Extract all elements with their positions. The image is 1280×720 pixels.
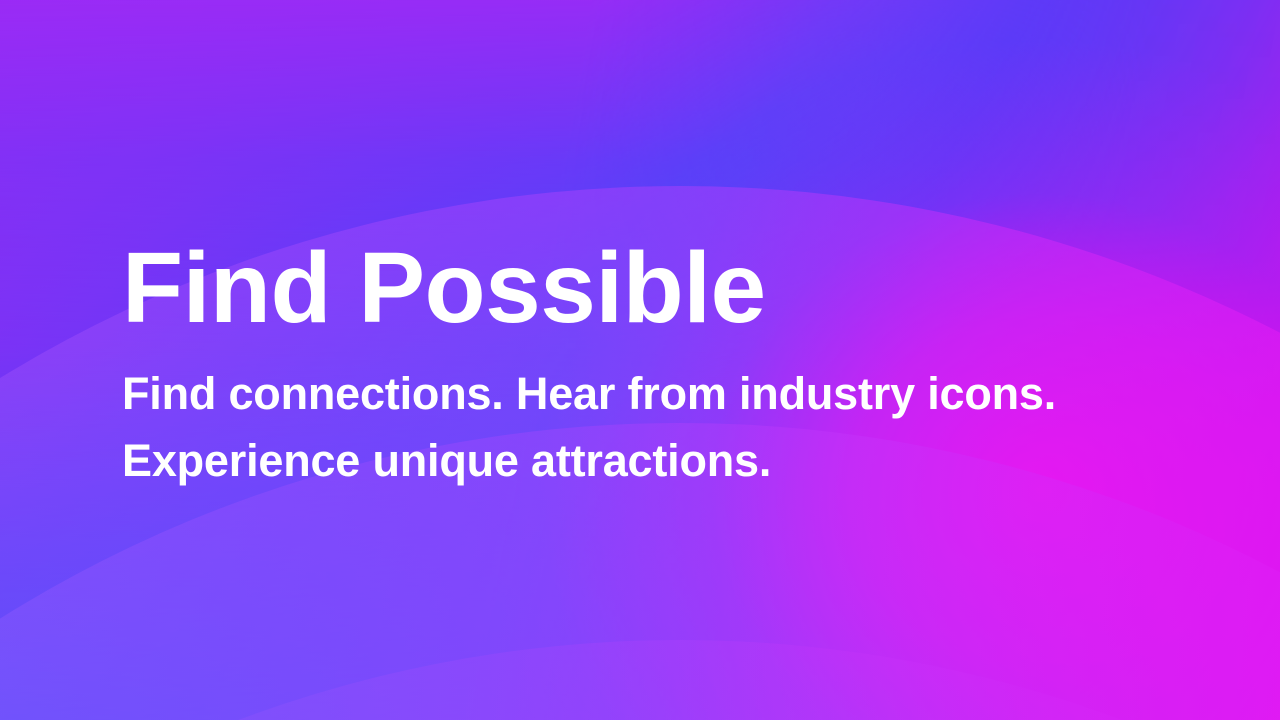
slide-canvas: Find Possible Find connections. Hear fro… xyxy=(0,0,1280,720)
page-subtitle-line-2: Experience unique attractions. xyxy=(122,427,1162,494)
page-title: Find Possible xyxy=(122,236,1162,340)
page-subtitle: Find connections. Hear from industry ico… xyxy=(122,340,1162,494)
text-block: Find Possible Find connections. Hear fro… xyxy=(122,236,1162,494)
page-subtitle-line-1: Find connections. Hear from industry ico… xyxy=(122,360,1162,427)
